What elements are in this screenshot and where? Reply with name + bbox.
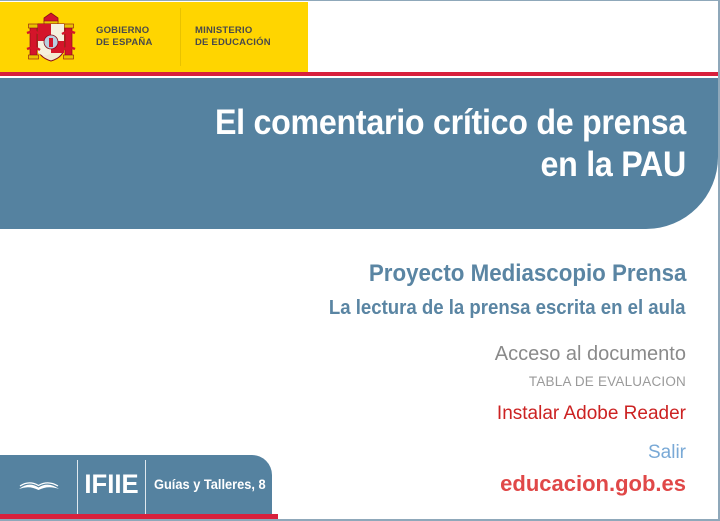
header-divider: [180, 8, 181, 66]
page-title-line-2: en la PAU: [215, 144, 686, 186]
series-label: Guías y Talleres, 8: [154, 477, 266, 492]
document-page: GOBIERNO DE ESPAÑA MINISTERIO DE EDUCACI…: [0, 0, 720, 521]
site-url-link[interactable]: educacion.gob.es: [500, 471, 686, 497]
ifiie-label: IFIIE: [85, 469, 139, 500]
header-red-rule: [0, 72, 718, 76]
ifiie-brand: IFIIE: [78, 455, 145, 514]
ministerio-de-educacion-label: MINISTERIO DE EDUCACIÓN: [195, 25, 271, 49]
title-panel: El comentario crítico de prensa en la PA…: [0, 78, 718, 229]
link-instalar-adobe-reader[interactable]: Instalar Adobe Reader: [497, 402, 686, 426]
series-label-cell: Guías y Talleres, 8: [146, 455, 272, 514]
content-area: Proyecto Mediascopio Prensa La lectura d…: [0, 229, 718, 455]
spain-coat-of-arms-icon: [22, 9, 80, 65]
gobierno-line-2: DE ESPAÑA: [96, 37, 172, 49]
page-title: El comentario crítico de prensa en la PA…: [215, 102, 686, 186]
government-header: GOBIERNO DE ESPAÑA MINISTERIO DE EDUCACI…: [0, 2, 308, 72]
footer-red-rule: [0, 514, 278, 519]
header-white-area: [308, 2, 718, 72]
ministerio-line-2: DE EDUCACIÓN: [195, 37, 271, 49]
ministerio-line-1: MINISTERIO: [195, 25, 271, 37]
open-book-icon: [0, 455, 77, 514]
page-title-line-1: El comentario crítico de prensa: [215, 102, 686, 144]
link-salir[interactable]: Salir: [648, 441, 686, 465]
footer-bar: IFIIE Guías y Talleres, 8: [0, 455, 272, 514]
project-subtitle: La lectura de la prensa escrita en el au…: [329, 295, 686, 321]
link-tabla-de-evaluacion[interactable]: TABLA DE EVALUACION: [529, 374, 686, 390]
link-acceso-al-documento[interactable]: Acceso al documento: [495, 342, 686, 366]
gobierno-line-1: GOBIERNO: [96, 25, 172, 37]
gobierno-de-espana-label: GOBIERNO DE ESPAÑA: [96, 25, 172, 49]
project-title: Proyecto Mediascopio Prensa: [368, 259, 686, 289]
